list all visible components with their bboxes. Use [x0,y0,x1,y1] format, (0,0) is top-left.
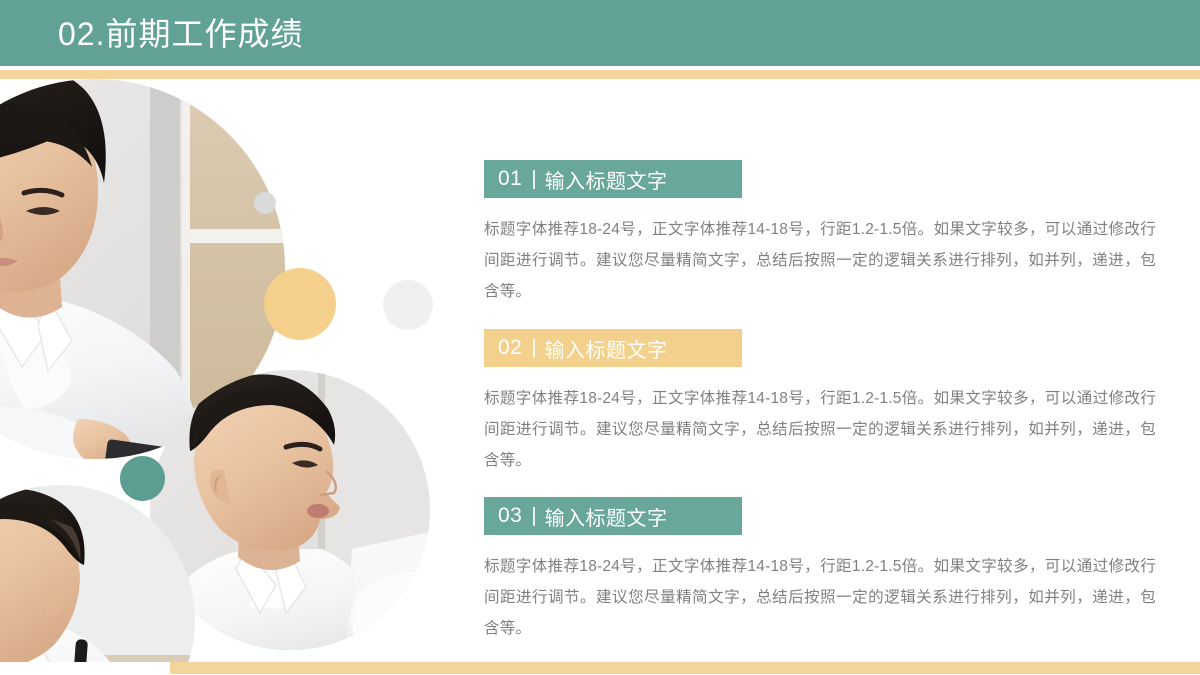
slide-title: 02.前期工作成绩 [58,15,304,53]
content-block-1: 01 | 输入标题文字 标题字体推荐18-24号，正文字体推荐14-18号，行距… [484,160,1164,307]
presentation-slide: 02.前期工作成绩 [0,0,1200,675]
content-block-3: 03 | 输入标题文字 标题字体推荐18-24号，正文字体推荐14-18号，行距… [484,497,1164,644]
section-number-3: 03 [498,504,522,528]
section-separator-2: | [531,337,536,360]
section-body-1: 标题字体推荐18-24号，正文字体推荐14-18号，行距1.2-1.5倍。如果文… [484,214,1156,307]
section-separator-1: | [531,168,536,191]
section-title-bar-2[interactable]: 02 | 输入标题文字 [484,329,742,367]
decor-circle-gray-small [254,192,276,214]
section-separator-3: | [531,505,536,528]
section-number-1: 01 [498,167,522,191]
decor-circle-yellow [264,268,336,340]
section-title-3: 输入标题文字 [545,502,668,531]
decor-circle-gray-large [383,280,433,330]
photo-collage [0,79,470,662]
decor-circle-teal [120,456,165,501]
content-block-2: 02 | 输入标题文字 标题字体推荐18-24号，正文字体推荐14-18号，行距… [484,329,1164,476]
content-column: 01 | 输入标题文字 标题字体推荐18-24号，正文字体推荐14-18号，行距… [484,0,1184,675]
section-number-2: 02 [498,336,522,360]
footer-accent-stripe [170,662,1200,674]
section-title-bar-3[interactable]: 03 | 输入标题文字 [484,497,742,535]
section-title-1: 输入标题文字 [545,165,668,194]
section-body-2: 标题字体推荐18-24号，正文字体推荐14-18号，行距1.2-1.5倍。如果文… [484,383,1156,476]
section-body-3: 标题字体推荐18-24号，正文字体推荐14-18号，行距1.2-1.5倍。如果文… [484,551,1156,644]
section-title-2: 输入标题文字 [545,334,668,363]
section-title-bar-1[interactable]: 01 | 输入标题文字 [484,160,742,198]
